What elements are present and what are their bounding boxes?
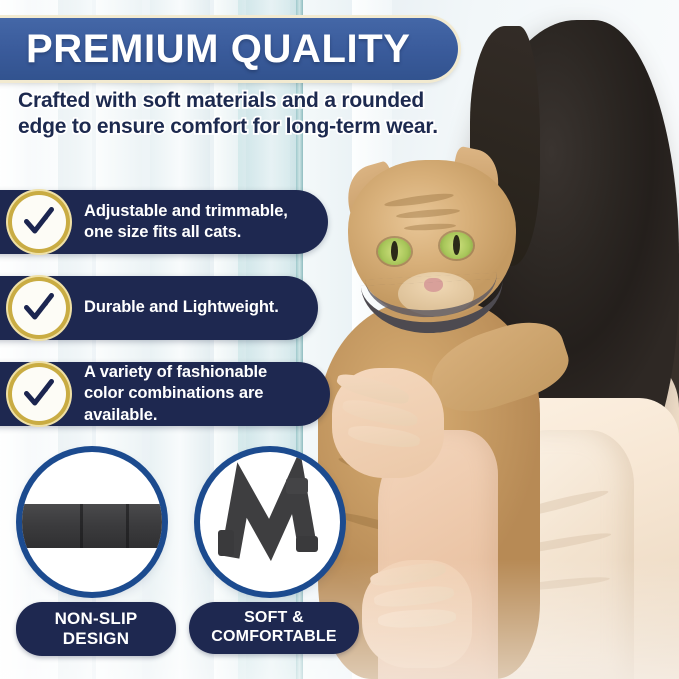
feature-pill: A variety of fashionable color combinati… — [0, 362, 330, 426]
cat-pupil-left — [391, 241, 398, 261]
callout-non-slip: NON-SLIP DESIGN — [22, 452, 176, 656]
m-shaped-strap-icon — [200, 452, 340, 592]
product-infographic: PREMIUM QUALITY Crafted with soft materi… — [0, 0, 679, 679]
premium-quality-banner: PREMIUM QUALITY — [0, 18, 458, 80]
callout-label: SOFT & COMFORTABLE — [189, 602, 359, 654]
page-title: PREMIUM QUALITY — [0, 29, 411, 69]
feature-pill: Adjustable and trimmable, one size fits … — [0, 190, 328, 254]
feature-pill: Durable and Lightweight. — [0, 276, 318, 340]
flat-strap — [22, 504, 162, 548]
checkmark-icon — [12, 367, 66, 421]
subtitle-text: Crafted with soft materials and a rounde… — [18, 88, 448, 140]
strap-seam — [126, 504, 129, 548]
callout-image-folded-strap — [200, 452, 340, 592]
checkmark-icon — [12, 195, 66, 249]
callout-image-flat-strap — [22, 452, 162, 592]
cat-pupil-right — [453, 235, 460, 255]
checkmark-icon — [12, 281, 66, 335]
callout-label: NON-SLIP DESIGN — [16, 602, 176, 656]
callout-soft-comfortable: SOFT & COMFORTABLE — [200, 452, 359, 654]
strap-seam — [80, 504, 83, 548]
